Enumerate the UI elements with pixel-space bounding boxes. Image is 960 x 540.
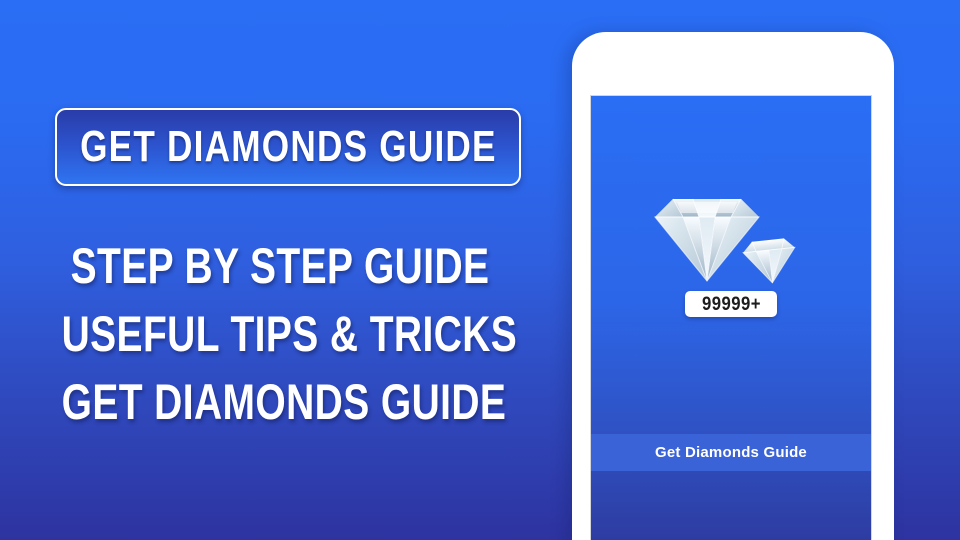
phone-mockup: 99999+ Get Diamonds Guide (572, 32, 894, 540)
promo-banner: GET DIAMONDS GUIDE STEP BY STEP GUIDE US… (0, 0, 960, 540)
headline-line-3: GET DIAMONDS GUIDE (62, 368, 499, 436)
headline-line-1: STEP BY STEP GUIDE (62, 232, 499, 300)
phone-screen: 99999+ Get Diamonds Guide (590, 95, 872, 540)
app-banner[interactable]: Get Diamonds Guide (591, 434, 871, 471)
app-banner-label: Get Diamonds Guide (655, 444, 807, 461)
title-badge-label: GET DIAMONDS GUIDE (80, 125, 497, 169)
diamond-count-value: 99999+ (702, 295, 761, 314)
copy-column: GET DIAMONDS GUIDE STEP BY STEP GUIDE US… (0, 0, 560, 540)
diamond-group: 99999+ (631, 191, 831, 321)
diamond-small-icon (741, 233, 800, 286)
headline-line-2: USEFUL TIPS & TRICKS (62, 300, 499, 368)
diamond-count-badge: 99999+ (685, 291, 777, 317)
headline-stack: STEP BY STEP GUIDE USEFUL TIPS & TRICKS … (0, 232, 560, 436)
title-badge: GET DIAMONDS GUIDE (55, 108, 521, 186)
